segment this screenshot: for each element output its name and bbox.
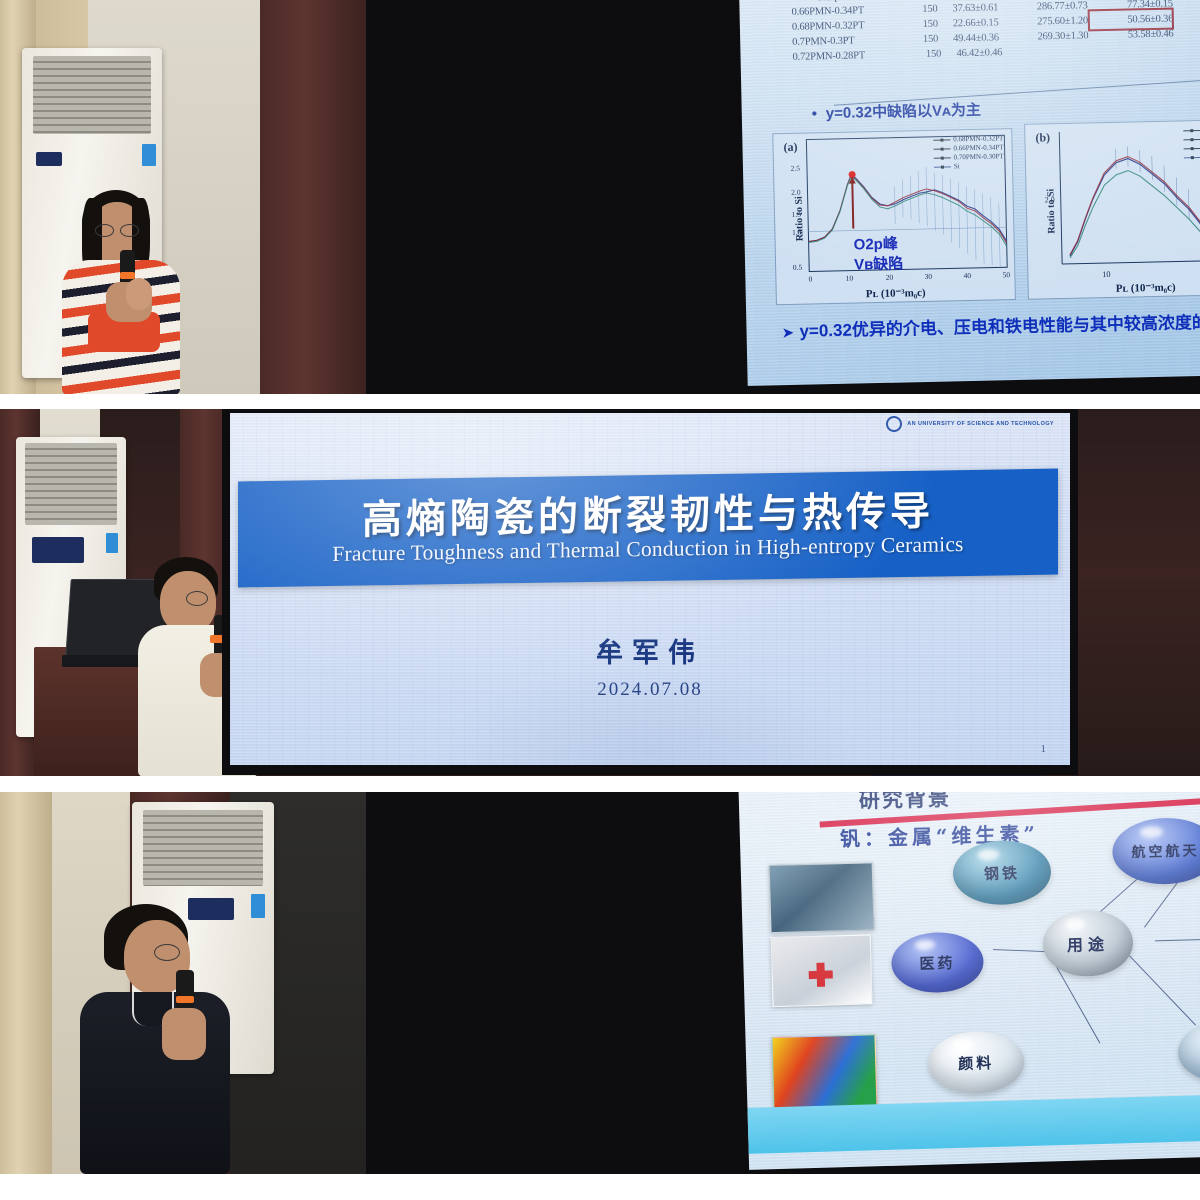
presentation-date: 2024.07.08 — [230, 679, 1070, 701]
svg-text:10: 10 — [846, 274, 854, 283]
svg-text:0: 0 — [808, 274, 812, 283]
th-sample: Sample — [791, 0, 907, 4]
td-r3-sample: 0.7PMN-0.3PT — [792, 34, 908, 48]
projection-screen-1: Sample P (Jpa) 266.40±1.50 62.37±0.xx 0.… — [366, 0, 1200, 394]
td-r3-p: 150 — [908, 33, 953, 45]
svg-text:2.5: 2.5 — [791, 164, 801, 173]
university-logo: AN UNIVERSITY OF SCIENCE AND TECHNOLOGY — [886, 416, 1054, 432]
chart-b-plot: 2.0 10 20 — [1025, 120, 1200, 301]
highlight-box — [1088, 8, 1174, 32]
svg-text:0.5: 0.5 — [793, 263, 803, 272]
glasses-icon — [186, 591, 208, 606]
td-r3-c2: 49.44±0.36 — [953, 32, 1038, 45]
th-p: P (Jpa) — [907, 0, 952, 1]
slide-title: 研究背景 — [858, 792, 951, 815]
chart-b: (b) Ratio to Si 0.68PMN-0.32PT 0.66PMN-0… — [1024, 119, 1200, 300]
slide-content-1: Sample P (Jpa) 266.40±1.50 62.37±0.xx 0.… — [739, 0, 1200, 386]
bullet-top: •y=0.32中缺陷以Vᴀ为主 — [812, 99, 982, 124]
arrow-bullet-icon: ➤ — [782, 325, 793, 340]
svg-text:30: 30 — [925, 272, 933, 281]
node-pigment: 颜料 — [927, 1030, 1025, 1095]
chart-a-plot: 2.5 2.0 1.5 1.0 0.5 0 10 20 30 40 50 — [773, 129, 1017, 306]
speaker-person-3 — [80, 904, 250, 1174]
svg-text:10: 10 — [1102, 269, 1111, 279]
node-center-usage: 用途 — [1042, 909, 1134, 977]
logo-text: AN UNIVERSITY OF SCIENCE AND TECHNOLOGY — [907, 421, 1054, 427]
node-aerospace: 航空航天 — [1112, 817, 1200, 886]
photo-panel-1: Sample P (Jpa) 266.40±1.50 62.37±0.xx 0.… — [0, 0, 1200, 394]
page-number: 1 — [1041, 743, 1047, 755]
footer-conclusion: ➤y=0.32优异的介电、压电和铁电性能与其中较高浓度的A位空位有关 — [782, 306, 1200, 342]
annotation-o2p: O2p峰 — [853, 236, 898, 254]
svg-text:40: 40 — [964, 271, 972, 280]
td-r4-p: 150 — [910, 48, 956, 60]
td-r1-sample: 0.66PMN-0.34PT — [791, 4, 907, 18]
steel-coils-photo — [769, 862, 875, 933]
chart-a: (a) Ratio to Si 0.68PMN-0.32PT 0.66PMN-0… — [772, 128, 1016, 305]
photo-collage: Sample P (Jpa) 266.40±1.50 62.37±0.xx 0.… — [0, 0, 1200, 1200]
svg-text:50: 50 — [1003, 270, 1011, 279]
td-r1-c2: 37.63±0.61 — [952, 2, 1037, 15]
projection-screen-2: AN UNIVERSITY OF SCIENCE AND TECHNOLOGY … — [222, 409, 1078, 775]
glasses-icon — [120, 224, 139, 237]
spoke-line — [1129, 955, 1196, 1025]
glasses-icon — [154, 944, 180, 961]
medicine-kit-photo — [771, 934, 873, 1007]
svg-text:20: 20 — [886, 273, 894, 282]
svg-text:2.0: 2.0 — [791, 188, 801, 197]
projection-screen-3: 研究背景 钒：金属“维生素” — [366, 792, 1200, 1174]
td-r1-p: 150 — [907, 3, 952, 15]
td-r3-c3: 269.30±1.30 — [1037, 30, 1127, 43]
node-steel: 钢铁 — [952, 839, 1052, 906]
td-r2-p: 150 — [908, 18, 953, 30]
spoke-line — [1155, 938, 1200, 942]
photo-panel-2: AN UNIVERSITY OF SCIENCE AND TECHNOLOGY … — [0, 409, 1200, 776]
logo-mark-icon — [886, 416, 902, 432]
annotation-vb: Vʙ缺陷 — [854, 255, 904, 273]
node-medicine: 医药 — [891, 931, 985, 994]
speaker-name: 牟军伟 — [230, 631, 1070, 670]
slide-content-2: AN UNIVERSITY OF SCIENCE AND TECHNOLOGY … — [230, 413, 1070, 765]
paint-pigments-photo — [771, 1034, 877, 1109]
td-r4-c2: 46.42±0.46 — [956, 46, 1042, 59]
glasses-icon — [95, 224, 114, 237]
svg-text:1.5: 1.5 — [792, 210, 802, 219]
svg-text:2.0: 2.0 — [1045, 195, 1055, 204]
sample-table: Sample P (Jpa) 266.40±1.50 62.37±0.xx 0.… — [791, 0, 1200, 63]
speaker-person-1 — [48, 190, 208, 394]
slide-content-3: 研究背景 钒：金属“维生素” — [738, 792, 1200, 1170]
td-r2-sample: 0.68PMN-0.32PT — [792, 19, 908, 33]
photo-panel-3: 研究背景 钒：金属“维生素” — [0, 792, 1200, 1174]
title-banner: 高熵陶瓷的断裂韧性与热传导 Fracture Toughness and The… — [238, 469, 1058, 588]
svg-text:1.0: 1.0 — [792, 228, 802, 237]
td-r2-c2: 22.66±0.15 — [953, 17, 1038, 30]
td-r4-sample: 0.72PMN-0.28PT — [792, 49, 910, 63]
node-battery: 电池 — [1177, 1019, 1200, 1084]
